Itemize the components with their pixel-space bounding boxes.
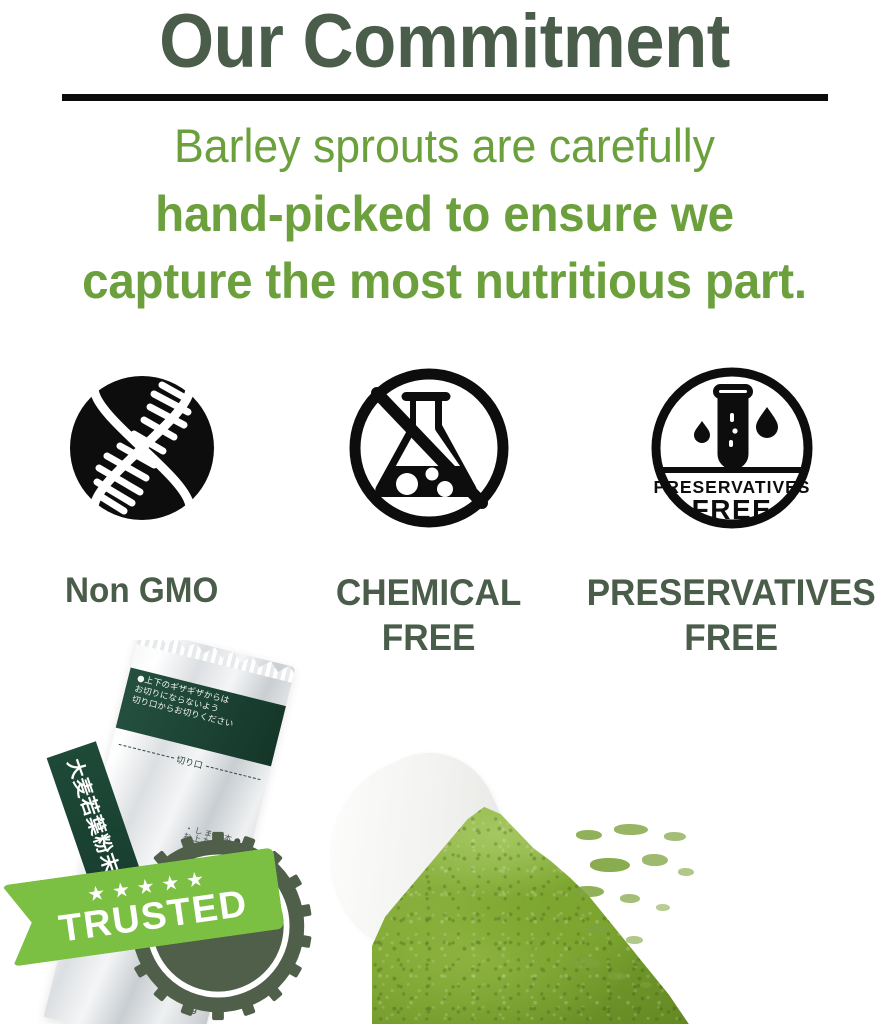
test-tube-droplets-icon: PRESERVATIVES FREE — [645, 362, 819, 534]
product-photo-composition: ●上下のギザギザからは お切りにならないよう 切り口からお切りください 切り口 … — [0, 640, 889, 1024]
badge-label-non-gmo: Non GMO — [65, 570, 218, 613]
header: Our Commitment — [0, 0, 889, 101]
no-chemicals-flask-icon — [343, 362, 515, 534]
badge-chemical-free: CHEMICAL FREE — [284, 362, 574, 660]
page-title: Our Commitment — [31, 0, 858, 81]
subtitle-line-1: Barley sprouts are carefully — [22, 122, 867, 169]
dna-helix-icon — [64, 362, 220, 534]
sachet-band-instructions: ●上下のギザギザからは お切りにならないよう 切り口からお切りください — [130, 674, 281, 742]
subtitle-line-2: hand-picked to ensure we — [22, 189, 867, 239]
badge-preservatives-free: PRESERVATIVES FREE PRESERVATIVES FREE — [574, 362, 889, 660]
badge-non-gmo: Non GMO — [0, 362, 284, 613]
powder-scatter-particles — [568, 824, 743, 1004]
barley-powder-mound — [372, 780, 772, 1024]
subtitle: Barley sprouts are carefully hand-picked… — [0, 122, 889, 323]
title-divider — [62, 94, 828, 101]
badge-inner-text-bottom: FREE — [691, 494, 772, 525]
subtitle-line-3: capture the most nutritious part. — [22, 256, 867, 306]
trust-badges-row: Non GMO CHEMICAL FRE — [0, 362, 889, 660]
